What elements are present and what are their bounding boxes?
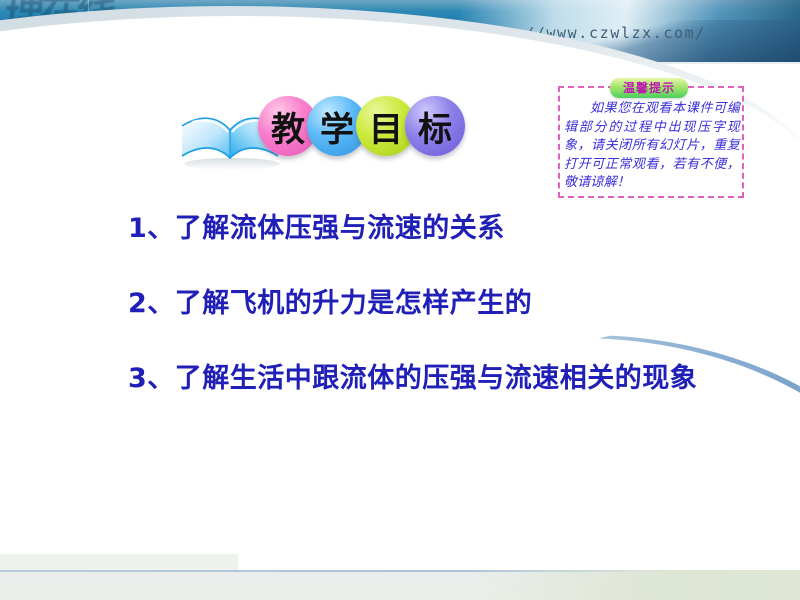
objective-item-2: 2、了解飞机的升力是怎样产生的 [128,289,768,319]
bottom-strip-tint [470,570,800,600]
slide-root: 理在线 初中物理在线 http://www.czwlzx.com/ [0,0,800,600]
title-character-circles: 教 学 目 标 [258,96,472,178]
objectives-list: 1、了解流体压强与流速的关系 2、了解飞机的升力是怎样产生的 3、了解生活中跟流… [128,214,768,439]
section-title-graphic: 教 学 目 标 [176,96,472,182]
title-char-circle-4: 标 [405,96,465,156]
notice-body-text: 如果您在观看本课件可编辑部分的过程中出现压字现象，请关闭所有幻灯片，重复打开可正… [564,100,740,193]
notice-header-badge: 温馨提示 [610,78,688,98]
objective-item-3: 3、了解生活中跟流体的压强与流速相关的现象 [128,364,768,394]
objective-item-1: 1、了解流体压强与流速的关系 [128,214,768,244]
